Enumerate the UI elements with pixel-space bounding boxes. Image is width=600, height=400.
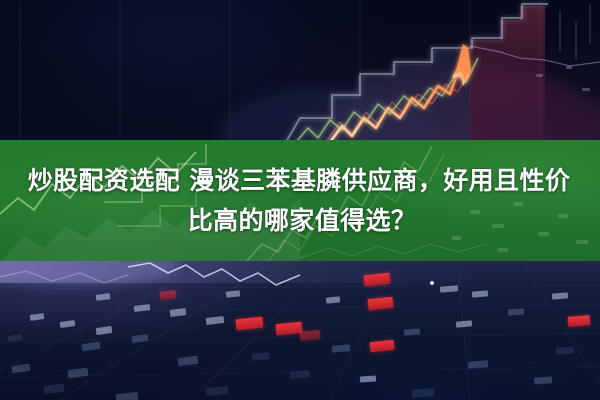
top-chart-svg xyxy=(0,0,600,142)
quote-cell xyxy=(360,375,376,382)
quote-cell xyxy=(556,346,574,354)
market-data-grid xyxy=(0,261,600,400)
green-title-banner: 炒股配资选配 漫谈三苯基膦供应商，好用且性价 比高的哪家值得选？ xyxy=(0,140,600,262)
chart-area-fill-right xyxy=(470,6,545,142)
title-line-1: 炒股配资选配 漫谈三苯基膦供应商，好用且性价 xyxy=(28,161,573,201)
quote-cell xyxy=(468,360,488,368)
cover-image: 炒股配资选配 漫谈三苯基膦供应商，好用且性价 比高的哪家值得选？ xyxy=(0,0,600,400)
right-streaks xyxy=(560,4,590,60)
quote-cell-red xyxy=(568,315,591,327)
grid-bright-dot xyxy=(430,281,434,285)
quote-cell xyxy=(412,388,435,398)
banner-title: 炒股配资选配 漫谈三苯基膦供应商，好用且性价 比高的哪家值得选？ xyxy=(0,140,600,262)
title-line-2: 比高的哪家值得选？ xyxy=(184,201,417,241)
top-chart-scene xyxy=(0,0,600,142)
quote-cell xyxy=(116,392,139,400)
quote-cell xyxy=(534,376,552,384)
